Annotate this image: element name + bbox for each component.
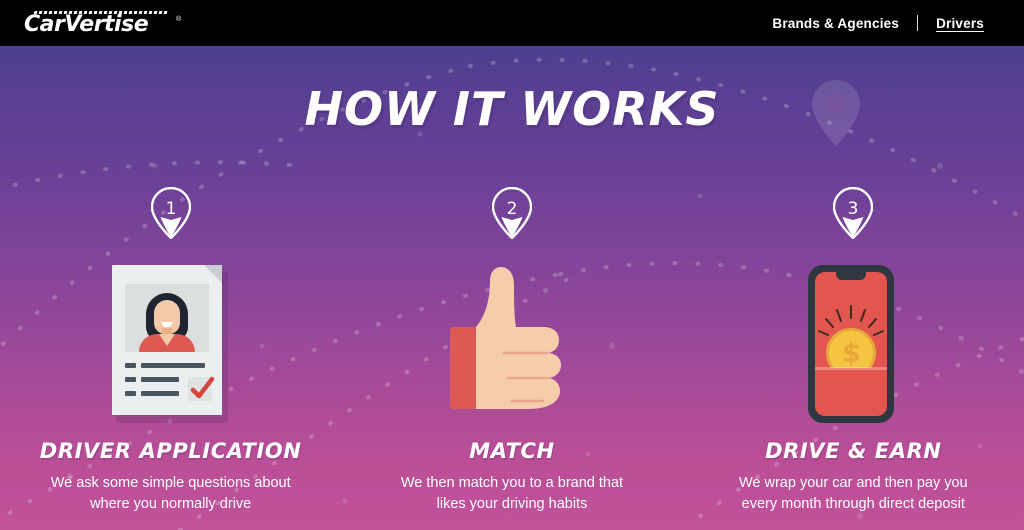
dollar-coin: $ bbox=[826, 328, 876, 368]
form-line-dash bbox=[125, 377, 136, 382]
thumbs-up-icon bbox=[442, 265, 582, 425]
svg-text:1: 1 bbox=[165, 199, 176, 219]
step-card-2: 2 bbox=[341, 46, 682, 530]
document-checkbox bbox=[188, 377, 212, 401]
form-line-bar bbox=[141, 363, 205, 368]
step-card-1: 1 bbox=[0, 46, 341, 530]
driver-application-document-icon bbox=[112, 265, 230, 425]
thumb-hand bbox=[476, 267, 561, 409]
phone-frame: $ bbox=[808, 265, 894, 423]
site-header: CarVertise ® Brands & Agencies Drivers bbox=[0, 0, 1024, 46]
form-line bbox=[125, 363, 209, 368]
nav-separator bbox=[917, 15, 918, 31]
step-illustration-1 bbox=[0, 255, 341, 425]
document-folded-corner bbox=[204, 265, 222, 283]
coin-mask: $ bbox=[815, 310, 887, 368]
svg-text:3: 3 bbox=[848, 199, 859, 219]
step-description-3: We wrap your car and then pay you every … bbox=[726, 473, 981, 515]
form-line-bar bbox=[141, 377, 179, 382]
step-title-3: DRIVE & EARN bbox=[765, 439, 942, 463]
form-line-dash bbox=[125, 363, 136, 368]
logo-registered-mark: ® bbox=[176, 16, 181, 23]
check-icon bbox=[187, 373, 217, 403]
logo-text: CarVertise bbox=[24, 14, 148, 36]
steps-container: 1 bbox=[0, 46, 1024, 530]
main-navigation: Brands & Agencies Drivers bbox=[754, 0, 1002, 46]
step-title-2: MATCH bbox=[469, 439, 554, 463]
nav-item-brands-agencies[interactable]: Brands & Agencies bbox=[754, 16, 917, 31]
step-illustration-3: $ bbox=[683, 255, 1024, 425]
step-pin-2: 2 bbox=[492, 187, 532, 239]
coin-rising-group: $ bbox=[815, 310, 887, 380]
person-collar bbox=[159, 334, 175, 346]
step-title-1: DRIVER APPLICATION bbox=[40, 439, 302, 463]
step-card-3: 3 bbox=[683, 46, 1024, 530]
phone-with-coin-icon: $ bbox=[808, 265, 898, 425]
svg-text:2: 2 bbox=[507, 199, 518, 219]
form-line-dash bbox=[125, 391, 136, 396]
step-pin-1: 1 bbox=[151, 187, 191, 239]
step-description-1: We ask some simple questions about where… bbox=[43, 473, 298, 515]
step-illustration-2 bbox=[341, 255, 682, 425]
step-pin-3: 3 bbox=[833, 187, 873, 239]
nav-item-drivers[interactable]: Drivers bbox=[918, 16, 1002, 31]
step-description-2: We then match you to a brand that likes … bbox=[384, 473, 639, 515]
phone-notch bbox=[836, 272, 866, 280]
carvertise-logo[interactable]: CarVertise ® bbox=[24, 8, 184, 38]
phone-screen: $ bbox=[815, 272, 887, 416]
dollar-symbol: $ bbox=[829, 331, 873, 368]
thumb-sleeve bbox=[450, 327, 478, 409]
form-line-bar bbox=[141, 391, 179, 396]
document-body bbox=[112, 265, 222, 415]
coin-horizon-line bbox=[815, 367, 887, 370]
page-root: CarVertise ® Brands & Agencies Drivers bbox=[0, 0, 1024, 530]
document-photo bbox=[125, 284, 209, 352]
